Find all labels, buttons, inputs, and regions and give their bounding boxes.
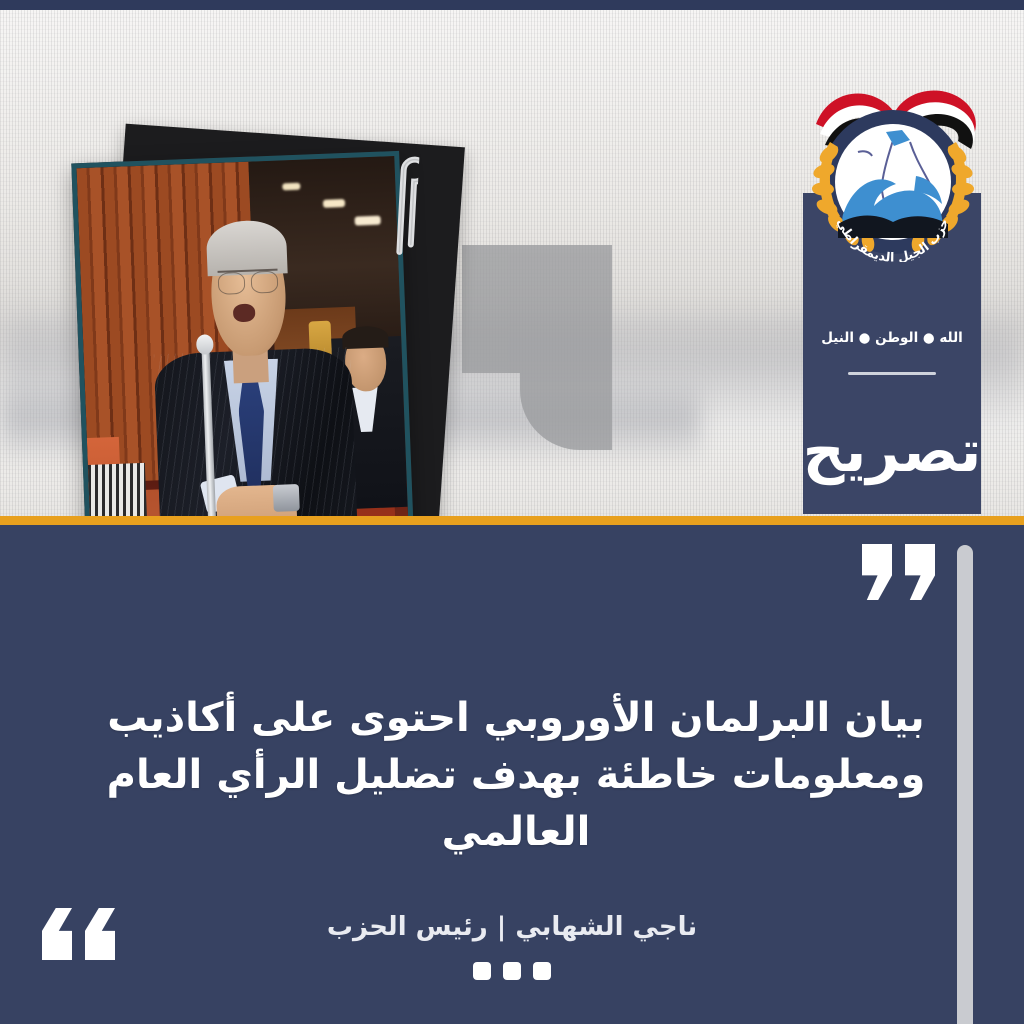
photo-ceiling-light [355,215,381,225]
quote-glyph [42,908,72,960]
photo-ceiling-light [282,182,300,190]
quote-glyph-decor [462,245,612,450]
quote-attribution: ناجي الشهابي | رئيس الحزب [212,912,812,942]
photo-second-man-hair [342,325,389,349]
motto-divider [848,372,936,375]
quote-glyph-top [462,245,612,373]
party-motto: الله ● الوطن ● النيل [803,330,981,346]
vertical-accent-rail [957,545,973,1024]
quote-glyph-stem [520,373,612,450]
orange-divider [0,516,1024,525]
quote-glyph [862,544,892,600]
quote-glyph [905,544,935,600]
photo-speaker-mouth [233,303,256,322]
party-emblem-icon: حزب الجيل الديمقراطي [798,72,988,262]
ellipsis-dots [212,962,812,980]
quote-glyph [85,908,115,960]
paperclip-icon [384,147,420,256]
dot [473,962,491,980]
quote-headline: بيان البرلمان الأوروبي احتوى على أكاذيب … [96,690,936,860]
dot [503,962,521,980]
opening-quote-mark [42,908,115,960]
top-navy-strip [0,0,1024,10]
closing-quote-mark [862,544,935,600]
photo-speaker-watch [273,484,299,512]
poster-canvas: حزب الجيل الديمقراطي الله ● الوطن ● الني… [0,0,1024,1024]
dot [533,962,551,980]
photo-ceiling-light [323,198,345,207]
kicker-label: تصريح [803,396,981,506]
photo-speaker-glasses [217,269,278,294]
